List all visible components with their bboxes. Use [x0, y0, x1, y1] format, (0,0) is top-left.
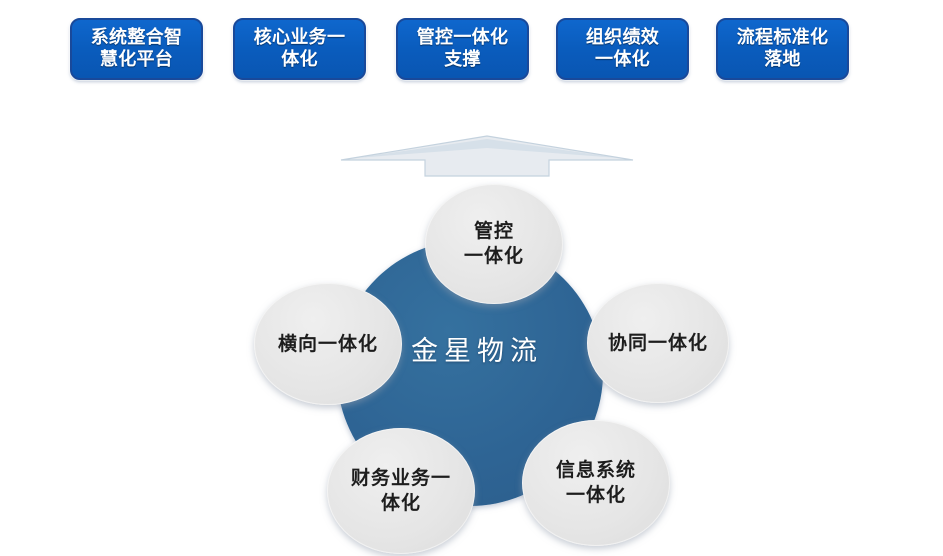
node-information-system-integration[interactable]: 信息系统 一体化	[522, 420, 670, 546]
top-box-process-standardization[interactable]: 流程标准化 落地	[716, 18, 849, 80]
top-box-label: 流程标准化 落地	[731, 27, 835, 71]
top-box-label: 核心业务一 体化	[248, 27, 352, 71]
top-box-label: 管控一体化 支撑	[411, 27, 515, 71]
top-box-label: 组织绩效 一体化	[580, 27, 665, 71]
node-label: 财务业务一 体化	[351, 466, 451, 515]
node-label: 协同一体化	[608, 331, 708, 356]
top-box-control-support[interactable]: 管控一体化 支撑	[396, 18, 529, 80]
top-box-system-integration[interactable]: 系统整合智 慧化平台	[70, 18, 203, 80]
node-horizontal-integration[interactable]: 横向一体化	[254, 283, 402, 405]
top-box-label: 系统整合智 慧化平台	[85, 27, 189, 71]
up-arrow-flat-icon	[337, 128, 637, 180]
node-control-integration[interactable]: 管控 一体化	[425, 184, 563, 304]
node-label: 信息系统 一体化	[556, 458, 636, 507]
slide-canvas: 系统整合智 慧化平台 核心业务一 体化 管控一体化 支撑 组织绩效 一体化 流程…	[0, 0, 943, 556]
top-box-org-performance[interactable]: 组织绩效 一体化	[556, 18, 689, 80]
node-label: 管控 一体化	[464, 219, 524, 268]
top-box-core-business[interactable]: 核心业务一 体化	[233, 18, 366, 80]
node-finance-business-integration[interactable]: 财务业务一 体化	[327, 428, 475, 554]
top-box-row: 系统整合智 慧化平台 核心业务一 体化 管控一体化 支撑 组织绩效 一体化 流程…	[0, 0, 943, 110]
node-collaboration-integration[interactable]: 协同一体化	[587, 283, 729, 403]
node-label: 横向一体化	[278, 332, 378, 357]
integration-flower-diagram: 管控 一体化 协同一体化 信息系统 一体化 财务业务一 体化 横向一体化 金星物…	[232, 178, 777, 556]
